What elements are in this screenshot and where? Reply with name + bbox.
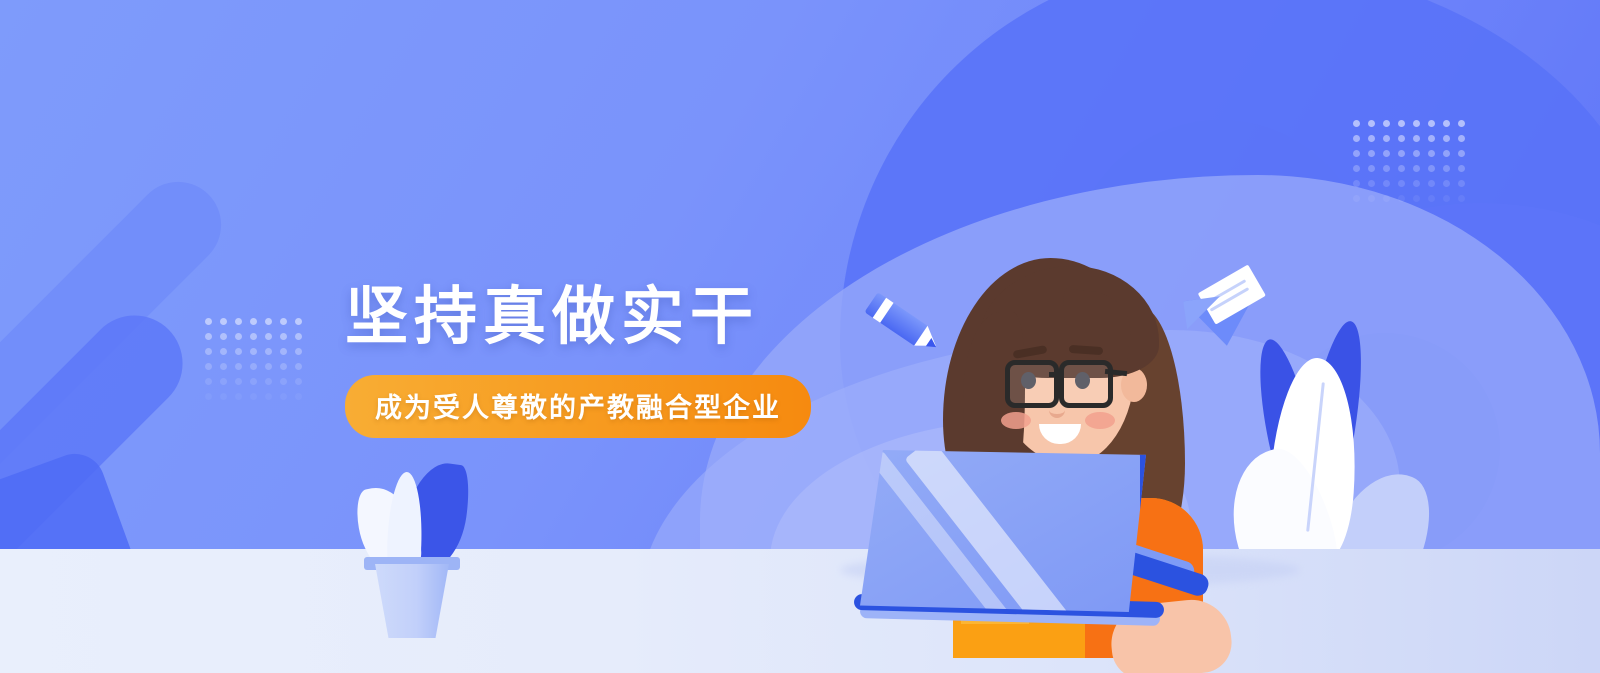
hero-banner: 坚持真做实干 成为受人尊敬的产教融合型企业 xyxy=(0,0,1600,673)
plant-left xyxy=(352,458,482,638)
cheek-right xyxy=(1085,412,1115,429)
dot-grid-icon-right xyxy=(1353,120,1465,202)
glasses-bridge xyxy=(1049,372,1061,377)
laptop-illustration xyxy=(860,450,1220,640)
tagline-badge: 成为受人尊敬的产教融合型企业 xyxy=(345,375,811,438)
glasses-lens-left-icon xyxy=(1005,360,1059,408)
glasses-lens-right-icon xyxy=(1059,360,1113,408)
page-title: 坚持真做实干 xyxy=(345,282,985,353)
desk-surface xyxy=(0,549,1600,673)
hero-copy: 坚持真做实干 成为受人尊敬的产教融合型企业 xyxy=(345,282,985,438)
flower-pot xyxy=(370,564,454,638)
laptop-screen-frame xyxy=(860,450,1146,612)
dot-grid-icon-left xyxy=(205,318,302,400)
cheek-left xyxy=(1001,412,1031,429)
